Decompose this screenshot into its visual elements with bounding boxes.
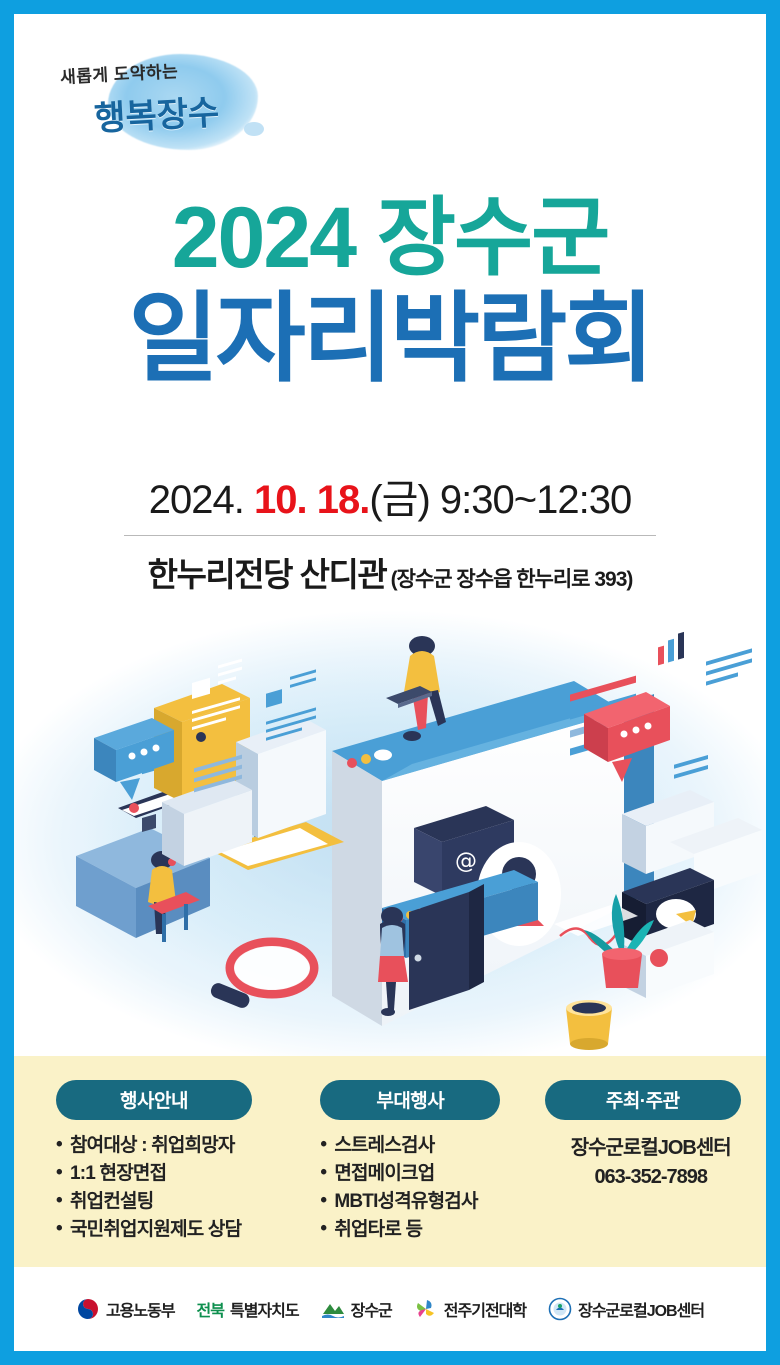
footer-logo-bar: 고용노동부 전북 특별자치도 장수군 전주기전대학 xyxy=(14,1267,766,1351)
venue-name: 한누리전당 산디관 xyxy=(148,556,387,593)
page-title: 2024 장수군 일자리박람회 xyxy=(14,190,766,390)
mountain-icon xyxy=(321,1297,345,1321)
list-item: 1:1 현장면접 xyxy=(56,1160,306,1188)
list-item: 스트레스검사 xyxy=(320,1132,530,1160)
footer-logo-molab: 고용노동부 xyxy=(76,1297,175,1321)
info-column-event-guide: 행사안내 참여대상 : 취업희망자 1:1 현장면접 취업컨설팅 국민취업지원제… xyxy=(14,1056,306,1267)
footer-logo-label: 장수군 xyxy=(351,1297,392,1321)
list-item: 취업컨설팅 xyxy=(56,1188,306,1216)
event-venue: 한누리전당 산디관 (장수군 장수읍 한누리로 393) xyxy=(14,548,766,596)
footer-logo-label: 전주기전대학 xyxy=(444,1297,526,1321)
isometric-job-search-scene: @ xyxy=(14,606,766,1056)
footer-logo-prefix: 전북 xyxy=(197,1297,224,1321)
happy-jangsu-logo: 새롭게 도약하는 행복장수 xyxy=(48,52,278,152)
poster-canvas: 새롭게 도약하는 행복장수 2024 장수군 일자리박람회 2024. 10. … xyxy=(14,14,766,1351)
organizer-block: 장수군로컬JOB센터 063-352-7898 xyxy=(545,1134,757,1192)
info-column-title: 부대행사 xyxy=(320,1080,500,1120)
info-column-organizer: 주최·주관 장수군로컬JOB센터 063-352-7898 xyxy=(531,1056,766,1267)
illustration-stage: @ xyxy=(14,606,766,1056)
organizer-phone: 063-352-7898 xyxy=(545,1163,757,1192)
info-column-title: 행사안내 xyxy=(56,1080,252,1120)
svg-text:@: @ xyxy=(455,849,477,874)
footer-logo-label: 고용노동부 xyxy=(106,1297,175,1321)
organizer-name: 장수군로컬JOB센터 xyxy=(545,1134,757,1163)
event-monthday: 10. 18. xyxy=(254,478,369,522)
info-panel: 행사안내 참여대상 : 취업희망자 1:1 현장면접 취업컨설팅 국민취업지원제… xyxy=(14,1056,766,1267)
job-center-seal-icon xyxy=(548,1297,572,1321)
footer-logo-label: 장수군로컬JOB센터 xyxy=(578,1297,704,1321)
title-line-1: 2024 장수군 xyxy=(14,190,766,286)
venue-address: (장수군 장수읍 한누리로 393) xyxy=(391,568,633,591)
footer-logo-job-center: 장수군로컬JOB센터 xyxy=(548,1297,704,1321)
watercolor-dot-icon xyxy=(244,122,264,136)
event-time: 9:30~12:30 xyxy=(440,478,631,522)
info-column-side-events: 부대행사 스트레스검사 면접메이크업 MBTI성격유형검사 취업타로 등 xyxy=(306,1056,530,1267)
list-item: 면접메이크업 xyxy=(320,1160,530,1188)
event-weekday: (금) xyxy=(369,478,440,522)
footer-logo-jeonbuk: 전북 특별자치도 xyxy=(197,1297,299,1321)
taegeuk-icon xyxy=(76,1297,100,1321)
footer-logo-label: 특별자치도 xyxy=(230,1297,299,1321)
list-item: 취업타로 등 xyxy=(320,1216,530,1244)
event-datetime: 2024. 10. 18.(금) 9:30~12:30 xyxy=(14,476,766,524)
event-year: 2024. xyxy=(149,478,254,522)
title-line-2: 일자리박람회 xyxy=(14,286,766,390)
side-events-list: 스트레스검사 면접메이크업 MBTI성격유형검사 취업타로 등 xyxy=(320,1132,530,1244)
list-item: 국민취업지원제도 상담 xyxy=(56,1216,306,1244)
jeonju-kijeon-icon xyxy=(414,1297,438,1321)
divider xyxy=(124,535,656,536)
footer-logo-jangsu: 장수군 xyxy=(321,1297,392,1321)
footer-logo-jeonju-kijeon: 전주기전대학 xyxy=(414,1297,526,1321)
coffee-cup xyxy=(566,1000,612,1050)
info-column-title: 주최·주관 xyxy=(545,1080,741,1120)
list-item: 참여대상 : 취업희망자 xyxy=(56,1132,306,1160)
magnifier-icon xyxy=(209,942,314,1010)
logo-brand: 행복장수 xyxy=(93,85,221,140)
event-guide-list: 참여대상 : 취업희망자 1:1 현장면접 취업컨설팅 국민취업지원제도 상담 xyxy=(56,1132,306,1244)
list-item: MBTI성격유형검사 xyxy=(320,1188,530,1216)
